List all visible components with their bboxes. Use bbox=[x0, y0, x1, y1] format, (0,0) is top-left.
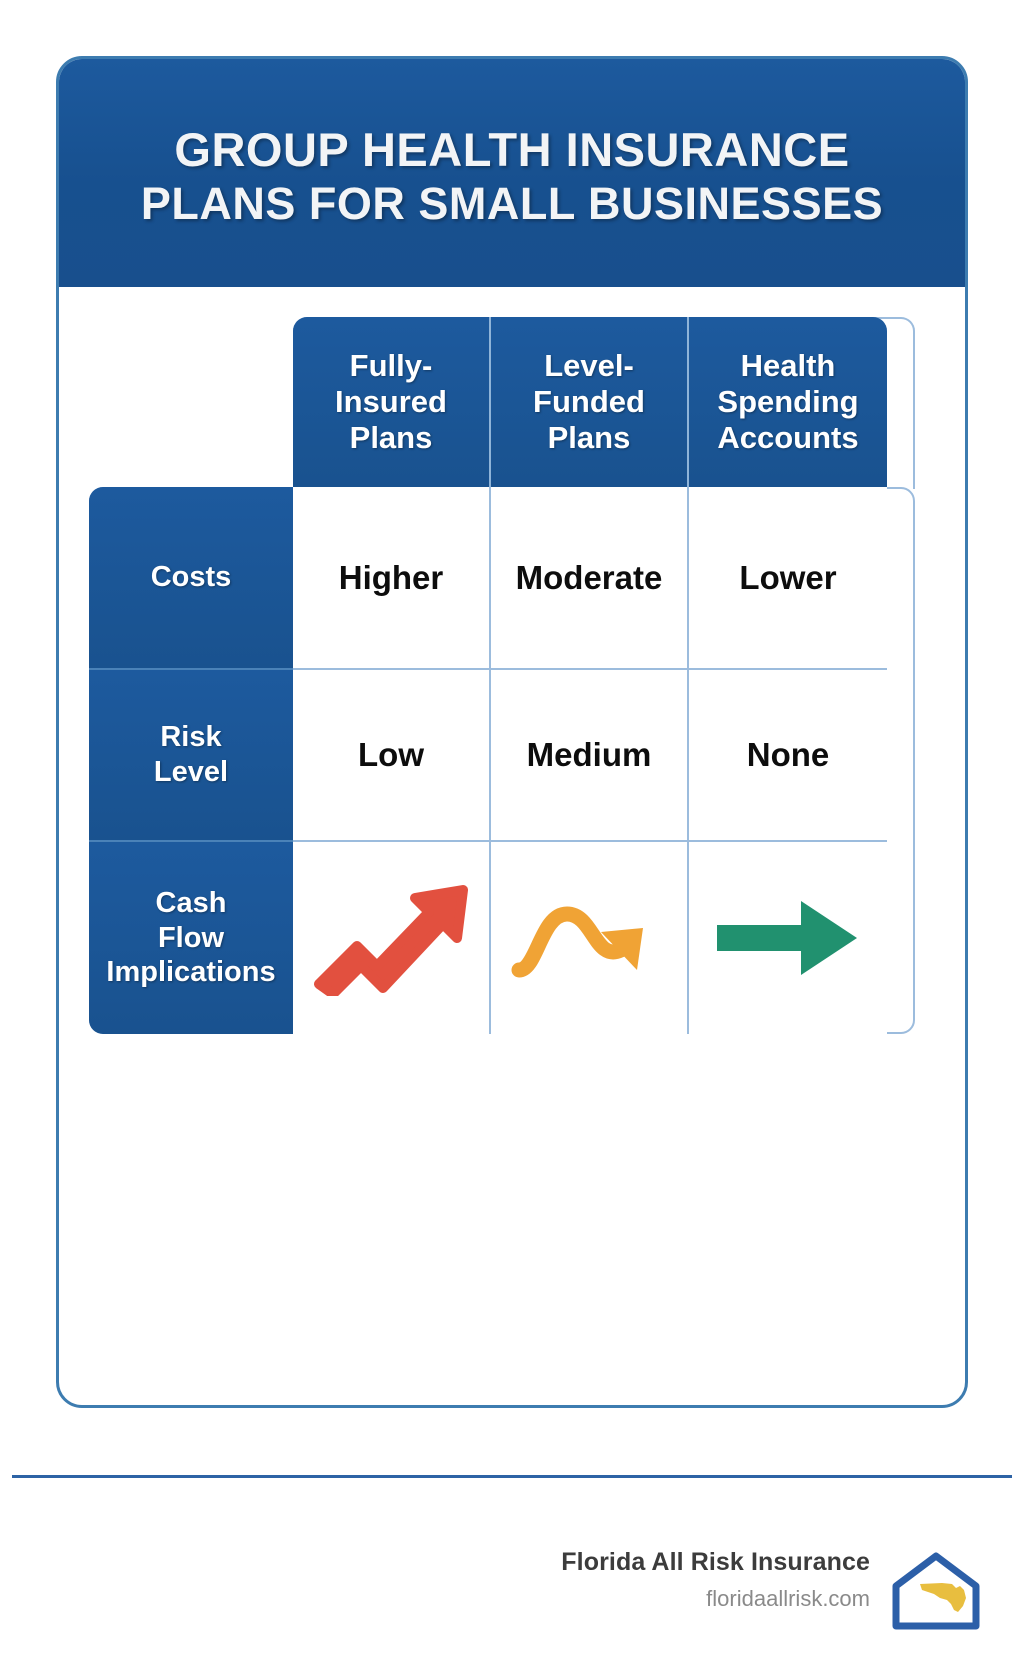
house-florida-logo-icon bbox=[890, 1550, 982, 1632]
cell-value: Medium bbox=[527, 736, 652, 774]
column-header-fully-insured: Fully- Insured Plans bbox=[293, 317, 491, 487]
cell-value: Higher bbox=[339, 559, 444, 597]
cell-value: Moderate bbox=[516, 559, 663, 597]
page-title-line-1: GROUP HEALTH INSURANCE bbox=[174, 125, 849, 175]
table-cell-cashflow-health-spending bbox=[689, 842, 887, 1034]
table-cell-costs-fully-insured: Higher bbox=[293, 487, 491, 670]
footer-bar: Florida All Risk Insurance floridaallris… bbox=[0, 1478, 1024, 1666]
page-title-line-2: PLANS FOR SMALL BUSINESSES bbox=[141, 180, 883, 228]
title-banner: GROUP HEALTH INSURANCE PLANS FOR SMALL B… bbox=[58, 58, 966, 287]
column-header-label: Level- Funded Plans bbox=[533, 348, 645, 456]
rising-zigzag-arrow-icon bbox=[293, 842, 489, 1034]
footer-company-name: Florida All Risk Insurance bbox=[561, 1548, 870, 1577]
table-cell-cashflow-fully-insured bbox=[293, 842, 491, 1034]
footer-text-block: Florida All Risk Insurance floridaallris… bbox=[561, 1548, 870, 1612]
footer-website-url[interactable]: floridaallrisk.com bbox=[561, 1586, 870, 1612]
table-cell-risk-level-funded: Medium bbox=[491, 670, 689, 842]
row-header-label: Risk Level bbox=[154, 720, 228, 790]
table-cell-risk-fully-insured: Low bbox=[293, 670, 491, 842]
straight-right-arrow-icon bbox=[689, 842, 887, 1034]
table-cell-risk-health-spending: None bbox=[689, 670, 887, 842]
table-cell-cashflow-level-funded bbox=[491, 842, 689, 1034]
wavy-arrow-icon bbox=[491, 842, 687, 1034]
row-header-cash-flow-implications: Cash Flow Implications bbox=[89, 842, 293, 1034]
infographic-card: GROUP HEALTH INSURANCE PLANS FOR SMALL B… bbox=[56, 56, 968, 1408]
comparison-table: Fully- Insured Plans Level- Funded Plans… bbox=[89, 317, 915, 1034]
row-header-label: Cash Flow Implications bbox=[106, 886, 275, 990]
column-header-health-spending: Health Spending Accounts bbox=[689, 317, 887, 487]
table-corner-cell bbox=[89, 317, 293, 487]
cell-value: Lower bbox=[739, 559, 836, 597]
column-header-label: Fully- Insured Plans bbox=[335, 348, 447, 456]
cell-value: Low bbox=[358, 736, 424, 774]
row-header-label: Costs bbox=[151, 560, 232, 595]
table-cell-costs-health-spending: Lower bbox=[689, 487, 887, 670]
row-header-risk-level: Risk Level bbox=[89, 670, 293, 842]
column-header-level-funded: Level- Funded Plans bbox=[491, 317, 689, 487]
table-cell-costs-level-funded: Moderate bbox=[491, 487, 689, 670]
column-header-label: Health Spending Accounts bbox=[717, 348, 858, 456]
row-header-costs: Costs bbox=[89, 487, 293, 670]
cell-value: None bbox=[747, 736, 830, 774]
